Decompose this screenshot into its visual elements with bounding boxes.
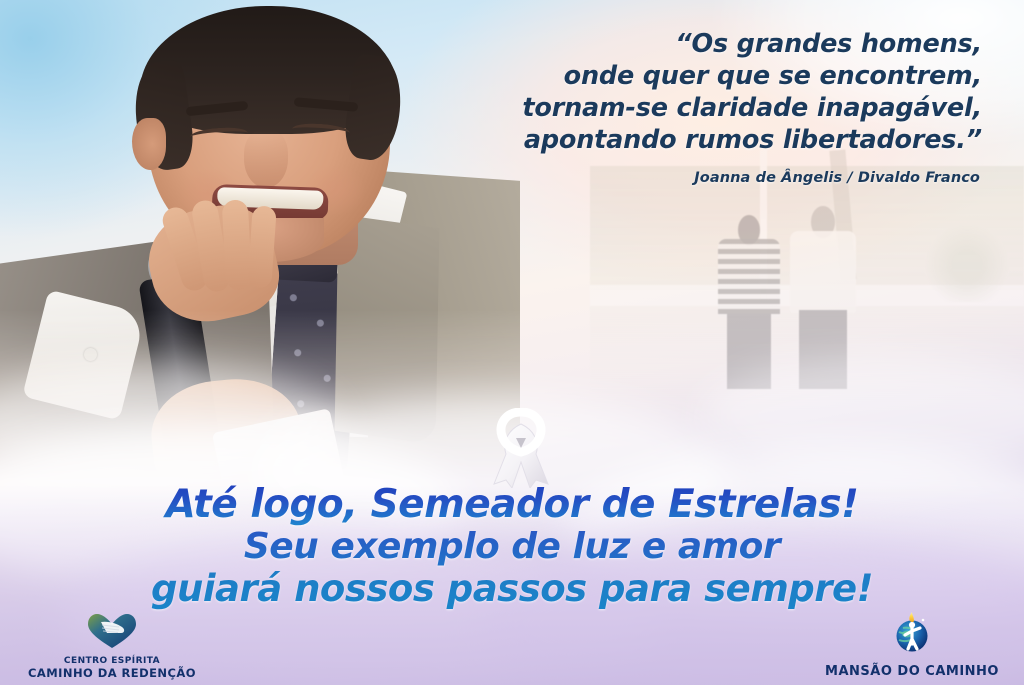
person-torso: [790, 231, 856, 313]
logo-left-label: CENTRO ESPÍRITA CAMINHO DA REDENÇÃO: [14, 656, 210, 679]
logo-left-line-2: CAMINHO DA REDENÇÃO: [14, 668, 210, 680]
background-palm: [922, 212, 1012, 302]
logo-mansao-do-caminho[interactable]: MANSÃO DO CAMINHO: [814, 611, 1010, 679]
ear: [132, 118, 166, 170]
logo-right-label: MANSÃO DO CAMINHO: [825, 664, 999, 679]
quote-attribution: Joanna de Ângelis / Divaldo Franco: [420, 170, 980, 186]
headline-line-3: guiará nossos passos para sempre!: [0, 568, 1024, 610]
headline-block: Até logo, Semeador de Estrelas! Seu exem…: [0, 484, 1024, 610]
mourning-ribbon-icon: [486, 408, 556, 488]
quote-line-1: “Os grandes homens,: [422, 28, 982, 60]
quote-line-2: onde quer que se encontrem,: [422, 60, 982, 92]
globe-figure-flame-icon: [814, 611, 1010, 657]
nose: [244, 130, 288, 188]
memorial-poster: “Os grandes homens, onde quer que se enc…: [0, 0, 1024, 685]
logo-centro-espirita[interactable]: CENTRO ESPÍRITA CAMINHO DA REDENÇÃO: [14, 613, 210, 679]
headline-line-2: Seu exemplo de luz e amor: [0, 526, 1024, 568]
heart-hand-icon: [14, 613, 210, 653]
quote-line-4: apontando rumos libertadores.”: [422, 124, 982, 156]
quote-text: “Os grandes homens, onde quer que se enc…: [422, 28, 982, 156]
headline-line-1: Até logo, Semeador de Estrelas!: [0, 484, 1024, 526]
person-torso: [718, 239, 780, 317]
quote-line-3: tornam-se claridade inapagável,: [422, 92, 982, 124]
